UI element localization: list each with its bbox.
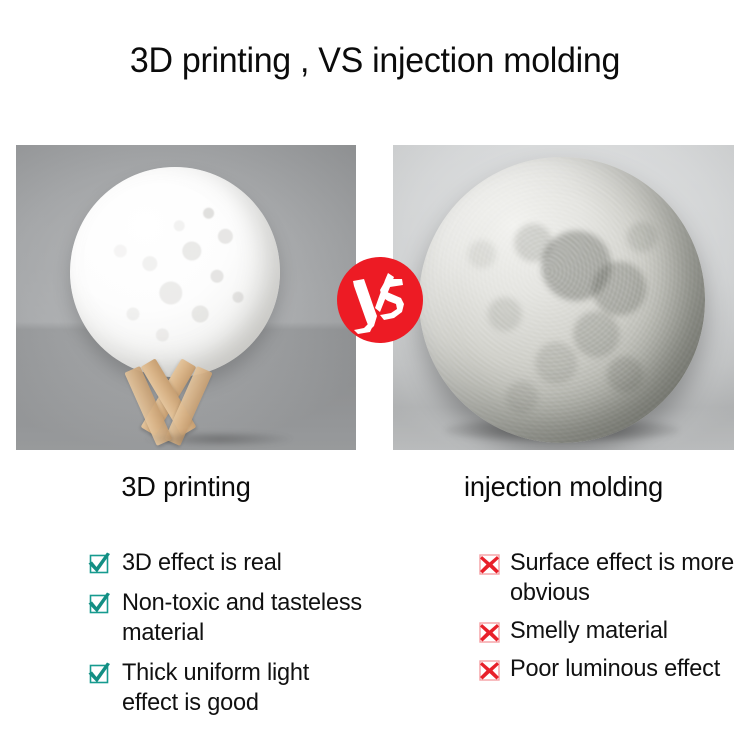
feature-label: Surface effect is more obvious xyxy=(510,548,745,608)
vs-badge xyxy=(337,257,423,343)
product-photo-3d-printing xyxy=(16,145,356,450)
stand-shadow xyxy=(144,431,294,447)
caption-injection-molding: injection molding xyxy=(398,470,729,504)
product-photo-injection-molding xyxy=(393,145,734,450)
feature-list-injection-molding: Surface effect is more obvious Smelly ma… xyxy=(476,548,750,692)
caption-3d-printing: 3D printing xyxy=(21,470,351,504)
feature-list-3d-printing: 3D effect is real Non-toxic and tasteles… xyxy=(86,548,376,728)
feature-item: Non-toxic and tasteless material xyxy=(86,588,376,648)
wooden-stand xyxy=(98,357,258,435)
check-box-icon xyxy=(86,660,113,687)
cross-box-icon xyxy=(476,550,503,577)
feature-label: Non-toxic and tasteless material xyxy=(122,588,371,648)
feature-item: 3D effect is real xyxy=(86,548,376,578)
feature-item: Smelly material xyxy=(476,616,750,646)
feature-item: Poor luminous effect xyxy=(476,654,750,684)
page-title: 3D printing , VS injection molding xyxy=(11,40,739,82)
check-box-icon xyxy=(86,590,113,617)
feature-label: Thick uniform light effect is good xyxy=(122,658,371,718)
feature-label: Smelly material xyxy=(510,616,668,646)
cross-box-icon xyxy=(476,618,503,645)
feature-label: 3D effect is real xyxy=(122,548,282,578)
moon-lamp-white xyxy=(70,167,280,377)
cross-box-icon xyxy=(476,656,503,683)
feature-label: Poor luminous effect xyxy=(510,654,720,684)
feature-item: Surface effect is more obvious xyxy=(476,548,750,608)
moon-sphere-gray xyxy=(419,157,705,443)
moon-rim-shading xyxy=(419,157,705,443)
feature-item: Thick uniform light effect is good xyxy=(86,658,376,718)
moon-rim-shading xyxy=(70,167,280,377)
vs-brush-lettering-icon xyxy=(344,264,416,336)
check-box-icon xyxy=(86,550,113,577)
